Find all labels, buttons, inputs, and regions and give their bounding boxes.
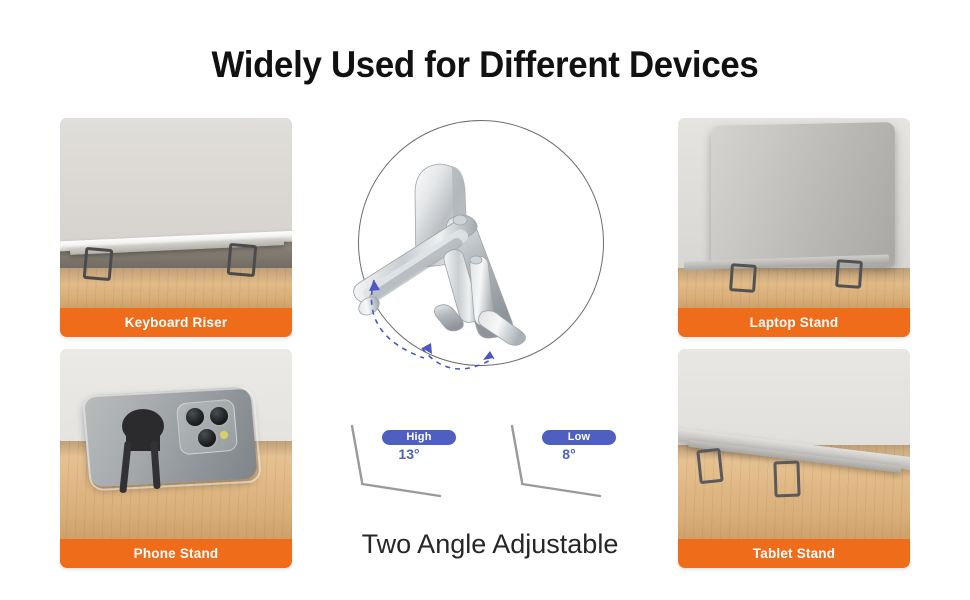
card-label-phone-stand: Phone Stand (60, 539, 292, 568)
card-laptop-stand[interactable]: Laptop Stand (678, 118, 910, 337)
angle-low: Low 8° (500, 418, 640, 508)
angle-high: High 13° (340, 418, 480, 508)
page-title: Widely Used for Different Devices (29, 44, 941, 86)
photo-tablet-stand (678, 349, 910, 539)
infographic-root: Widely Used for Different Devices Keyboa… (0, 0, 970, 600)
angle-indicators: High 13° Low 8° (340, 418, 640, 508)
card-label-tablet-stand: Tablet Stand (678, 539, 910, 568)
card-keyboard-riser[interactable]: Keyboard Riser (60, 118, 292, 337)
photo-laptop-stand (678, 118, 910, 308)
angle-high-badge: High (382, 430, 456, 445)
rotation-arrows (352, 250, 622, 380)
angle-high-value: 13° (382, 446, 436, 462)
card-label-laptop-stand: Laptop Stand (678, 308, 910, 337)
angle-low-badge: Low (542, 430, 616, 445)
center-caption: Two Angle Adjustable (310, 529, 670, 560)
card-phone-stand[interactable]: Phone Stand (60, 349, 292, 568)
card-tablet-stand[interactable]: Tablet Stand (678, 349, 910, 568)
photo-phone-stand (60, 349, 292, 539)
photo-keyboard-riser (60, 118, 292, 308)
card-label-keyboard-riser: Keyboard Riser (60, 308, 292, 337)
angle-low-value: 8° (542, 446, 596, 462)
